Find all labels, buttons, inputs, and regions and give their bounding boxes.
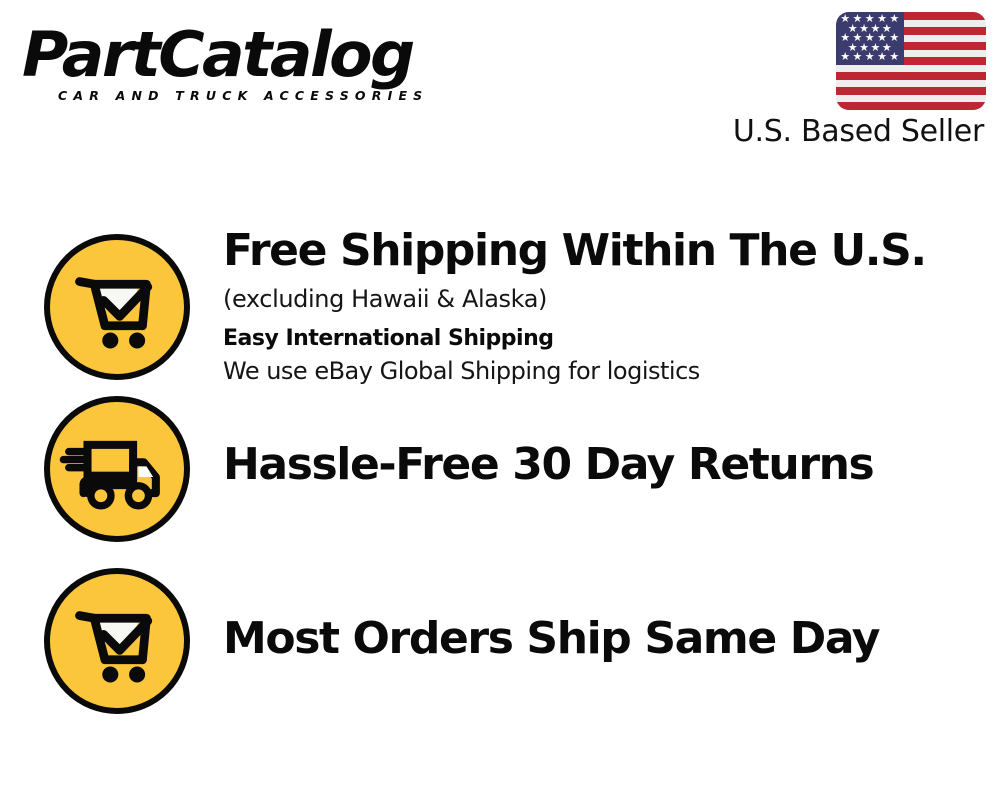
feature-text-free-shipping: Free Shipping Within The U.S. (excluding… [190,208,1000,387]
delivery-truck-icon [44,396,190,542]
shopping-cart-check-icon [44,568,190,714]
us-based-seller-label: U.S. Based Seller [686,115,984,149]
brand-tagline: CAR AND TRUCK ACCESSORIES [58,89,492,103]
partcatalog-logo: PartCatalog CAR AND TRUCK ACCESSORIES [22,22,492,112]
brand-wordmark: PartCatalog [22,22,501,88]
feature-headline: Free Shipping Within The U.S. [223,226,1000,276]
us-flag-icon: ★★★★★ ★★★★ ★★★★★ ★★★★ ★★★★★ [836,12,986,110]
feature-text-same-day: Most Orders Ship Same Day [190,552,1000,664]
feature-row-free-shipping: Free Shipping Within The U.S. (excluding… [0,208,1000,380]
feature-subline: (excluding Hawaii & Alaska) [223,282,1000,316]
shopping-cart-check-icon [44,234,190,380]
feature-list: Free Shipping Within The U.S. (excluding… [0,208,1000,724]
us-based-seller-block: ★★★★★ ★★★★ ★★★★★ ★★★★ ★★★★★ U. [686,12,986,149]
feature-headline: Hassle-Free 30 Day Returns [223,440,1000,490]
shipping-info-banner: PartCatalog CAR AND TRUCK ACCESSORIES ★★… [0,0,1000,800]
flag-star-row: ★★★★★ [836,53,904,62]
feature-row-same-day: Most Orders Ship Same Day [0,552,1000,724]
feature-text-returns: Hassle-Free 30 Day Returns [190,380,1000,490]
feature-row-returns: Hassle-Free 30 Day Returns [0,380,1000,552]
flag-canton: ★★★★★ ★★★★ ★★★★★ ★★★★ ★★★★★ [836,12,904,65]
feature-subhead: Easy International Shipping [223,324,1000,354]
feature-headline: Most Orders Ship Same Day [223,614,1000,664]
banner-header: PartCatalog CAR AND TRUCK ACCESSORIES ★★… [0,0,1000,170]
